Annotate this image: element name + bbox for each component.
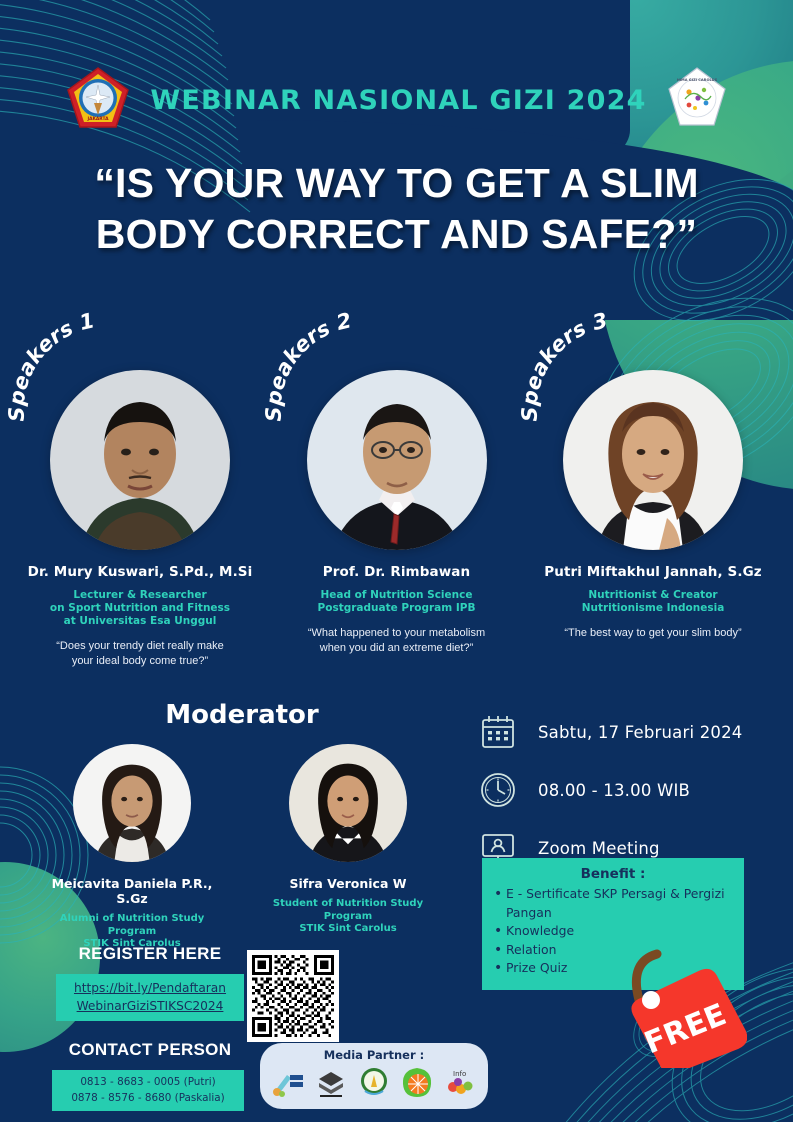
detail-date-text: Sabtu, 17 Februari 2024 <box>538 723 743 742</box>
speaker-2-role-line1: Head of Nutrition Science <box>271 589 523 602</box>
media-partner-logos: Info <box>260 1065 488 1099</box>
svg-text:Info: Info <box>453 1070 466 1078</box>
detail-platform-text: Zoom Meeting <box>538 839 660 858</box>
speaker-3-role-line2: Nutritionisme Indonesia <box>527 602 779 615</box>
himagizi-logo-icon <box>357 1065 391 1099</box>
speaker-1-photo <box>50 370 230 550</box>
speaker-card-2: Speakers 2 Prof. Dr. <box>271 336 523 669</box>
speaker-2-quote-line2: when you did an extreme diet?” <box>271 641 523 656</box>
calendar-icon <box>478 712 518 752</box>
detail-time-text: 08.00 - 13.00 WIB <box>538 781 690 800</box>
contact-heading: CONTACT PERSON <box>42 1040 258 1060</box>
qr-code[interactable] <box>247 950 339 1042</box>
moderator-2-photo <box>289 744 407 862</box>
media-partner-title: Media Partner : <box>260 1048 488 1062</box>
speaker-1-quote: “Does your trendy diet really make your … <box>14 639 266 669</box>
stik-sint-carolus-logo-icon: JAKARTA <box>64 65 132 135</box>
speaker-1-role-line1: Lecturer & Researcher <box>14 589 266 602</box>
speaker-2-role: Head of Nutrition Science Postgraduate P… <box>271 589 523 615</box>
moderator-2-name: Sifra Veronica W <box>263 876 433 891</box>
speaker-2-photo <box>307 370 487 550</box>
info-seminar-gizi-logo-icon: Info <box>443 1065 477 1099</box>
speaker-2-name: Prof. Dr. Rimbawan <box>271 564 523 580</box>
media-partner-box: Media Partner : <box>260 1043 488 1109</box>
speaker-1-role-line3: at Universitas Esa Unggul <box>14 615 266 628</box>
speaker-3-role: Nutritionist & Creator Nutritionisme Ind… <box>527 589 779 615</box>
contact-line-1: 0813 - 8683 - 0005 (Putri) <box>56 1075 240 1091</box>
moderator-heading: Moderator <box>42 700 442 730</box>
speaker-1-role-line2: on Sport Nutrition and Fitness <box>14 602 266 615</box>
registration-link-line1[interactable]: https://bit.ly/Pendaftaran <box>61 980 239 998</box>
free-price-tag: FREE <box>617 938 747 1068</box>
speaker-2-quote: “What happened to your metabolism when y… <box>271 626 523 656</box>
svg-text:HIMA GIZI CAROLUS: HIMA GIZI CAROLUS <box>676 78 717 82</box>
detail-row-time: 08.00 - 13.00 WIB <box>478 770 743 810</box>
moderator-1-photo <box>73 744 191 862</box>
hima-gizi-carolus-logo-icon: HIMA GIZI CAROLUS <box>665 65 729 135</box>
benefit-item: E - Sertificate SKP Persagi & Pergizi Pa… <box>492 885 734 922</box>
speaker-3-quote: “The best way to get your slim body” <box>527 626 779 641</box>
speaker-1-name: Dr. Mury Kuswari, S.Pd., M.Si <box>14 564 266 580</box>
registration-link[interactable]: https://bit.ly/Pendaftaran WebinarGiziST… <box>56 974 244 1021</box>
speaker-3-name: Putri Miftakhul Jannah, S.Gz <box>527 564 779 580</box>
speaker-card-1: Speakers 1 Dr. Mury Kuswari, S.Pd., M.Si… <box>14 336 266 669</box>
svg-text:JAKARTA: JAKARTA <box>87 116 110 122</box>
speaker-3-quote-line1: “The best way to get your slim body” <box>527 626 779 641</box>
event-headline: “IS YOUR WAY TO GET A SLIM BODY CORRECT … <box>0 158 793 261</box>
moderator-2-role-line1: Student of Nutrition Study Program <box>263 898 433 923</box>
speaker-card-3: Speakers 3 Putri Miftakhul Jannah, S.Gz … <box>527 336 779 669</box>
moderator-1-role-line1: Alumni of Nutrition Study Program <box>47 913 217 938</box>
ilmu-gizi-logo-icon <box>271 1065 305 1099</box>
speaker-3-photo <box>563 370 743 550</box>
ikut-event-logo-icon <box>314 1065 348 1099</box>
speaker-3-role-line1: Nutritionist & Creator <box>527 589 779 602</box>
contact-box[interactable]: 0813 - 8683 - 0005 (Putri) 0878 - 8576 -… <box>52 1070 244 1111</box>
benefit-title: Benefit : <box>492 866 734 882</box>
headline-line-1: “IS YOUR WAY TO GET A SLIM <box>0 158 793 209</box>
speaker-2-quote-line1: “What happened to your metabolism <box>271 626 523 641</box>
clock-icon <box>478 770 518 810</box>
orange-leaf-logo-icon <box>400 1065 434 1099</box>
headline-line-2: BODY CORRECT AND SAFE?” <box>0 209 793 260</box>
register-heading: REGISTER HERE <box>42 944 258 964</box>
moderator-1-name: Meicavita Daniela P.R., S.Gz <box>47 876 217 906</box>
speaker-1-role: Lecturer & Researcher on Sport Nutrition… <box>14 589 266 628</box>
speaker-1-quote-line2: your ideal body come true?” <box>14 654 266 669</box>
page-title: WEBINAR NASIONAL GIZI 2024 <box>150 85 646 116</box>
moderator-section: Meicavita Daniela P.R., S.Gz Alumni of N… <box>30 744 450 951</box>
moderator-2-role: Student of Nutrition Study Program STIK … <box>263 898 433 936</box>
detail-row-date: Sabtu, 17 Februari 2024 <box>478 712 743 752</box>
speaker-1-quote-line1: “Does your trendy diet really make <box>14 639 266 654</box>
event-details: Sabtu, 17 Februari 2024 08.00 - 13.00 WI… <box>478 712 743 868</box>
registration-link-line2[interactable]: WebinarGiziSTIKSC2024 <box>61 998 239 1016</box>
moderator-card-2: Sifra Veronica W Student of Nutrition St… <box>263 744 433 951</box>
poster-header: JAKARTA WEBINAR NASIONAL GIZI 2024 HIMA … <box>0 60 793 140</box>
speakers-section: Speakers 1 Dr. Mury Kuswari, S.Pd., M.Si… <box>0 336 793 669</box>
moderator-card-1: Meicavita Daniela P.R., S.Gz Alumni of N… <box>47 744 217 951</box>
speaker-2-role-line2: Postgraduate Program IPB <box>271 602 523 615</box>
contact-line-2: 0878 - 8576 - 8680 (Paskalia) <box>56 1091 240 1107</box>
moderator-2-role-line2: STIK Sint Carolus <box>263 923 433 936</box>
